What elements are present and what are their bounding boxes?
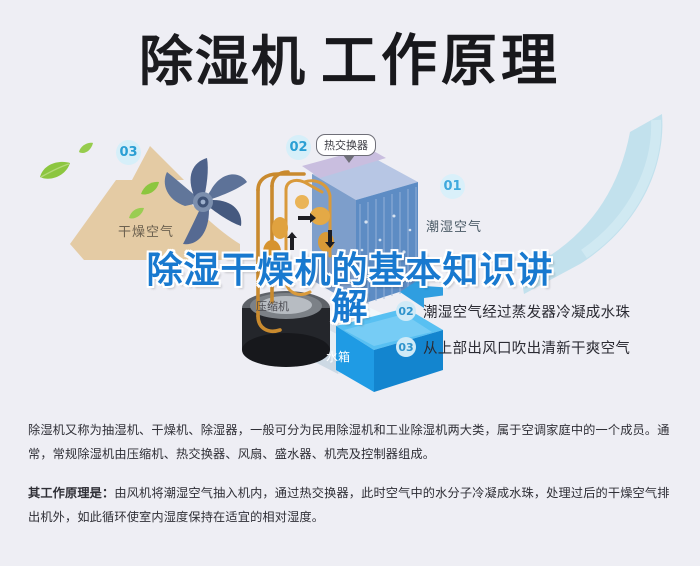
humid-air-arrow-icon [404, 114, 674, 294]
heat-exchanger-badge: 02 [286, 135, 311, 160]
water-tank-label: 水箱 [326, 348, 350, 365]
humid-air-label: 潮湿空气 [426, 216, 482, 235]
legend-badge: 03 [396, 337, 416, 357]
leaf-icon [128, 206, 145, 220]
legend-text: 从上部出风口吹出清新干爽空气 [423, 337, 630, 358]
title-part-2: 工作原理 [321, 34, 561, 90]
legend-badge: 02 [396, 301, 416, 321]
compressor-label: 压缩机 [256, 298, 289, 314]
heat-exchanger-callout: 热交换器 [316, 134, 376, 156]
dry-air-badge: 03 [116, 140, 141, 165]
leaf-icon [38, 160, 72, 182]
paragraph-2: 其工作原理是：由风机将潮湿空气抽入机内，通过热交换器，此时空气中的水分子冷凝成水… [28, 481, 676, 530]
title-part-1: 除湿机 [139, 35, 307, 89]
leaf-icon [78, 142, 94, 156]
paragraph-1: 除湿机又称为抽湿机、干燥机、除湿器，一般可分为民用除湿机和工业除湿机两大类，属于… [28, 418, 676, 467]
legend-item: 03 从上部出风口吹出清新干爽空气 [396, 329, 696, 365]
diagram-illustration: 03 干燥空气 [0, 108, 700, 408]
page-title: 除湿机 工作原理 [0, 26, 700, 98]
infographic-page: 除湿机 工作原理 03 干燥空气 [0, 0, 700, 566]
legend-list: 02 潮湿空气经过蒸发器冷凝成水珠 03 从上部出风口吹出清新干爽空气 [396, 293, 696, 365]
humid-air-badge: 01 [440, 174, 465, 199]
paragraph-2-lead: 其工作原理是： [28, 486, 114, 500]
legend-item: 02 潮湿空气经过蒸发器冷凝成水珠 [396, 293, 696, 329]
legend-text: 潮湿空气经过蒸发器冷凝成水珠 [423, 301, 630, 322]
article-body: 除湿机又称为抽湿机、干燥机、除湿器，一般可分为民用除湿机和工业除湿机两大类，属于… [28, 418, 676, 544]
paragraph-2-rest: 由风机将潮湿空气抽入机内，通过热交换器，此时空气中的水分子冷凝成水珠，处理过后的… [28, 486, 670, 524]
